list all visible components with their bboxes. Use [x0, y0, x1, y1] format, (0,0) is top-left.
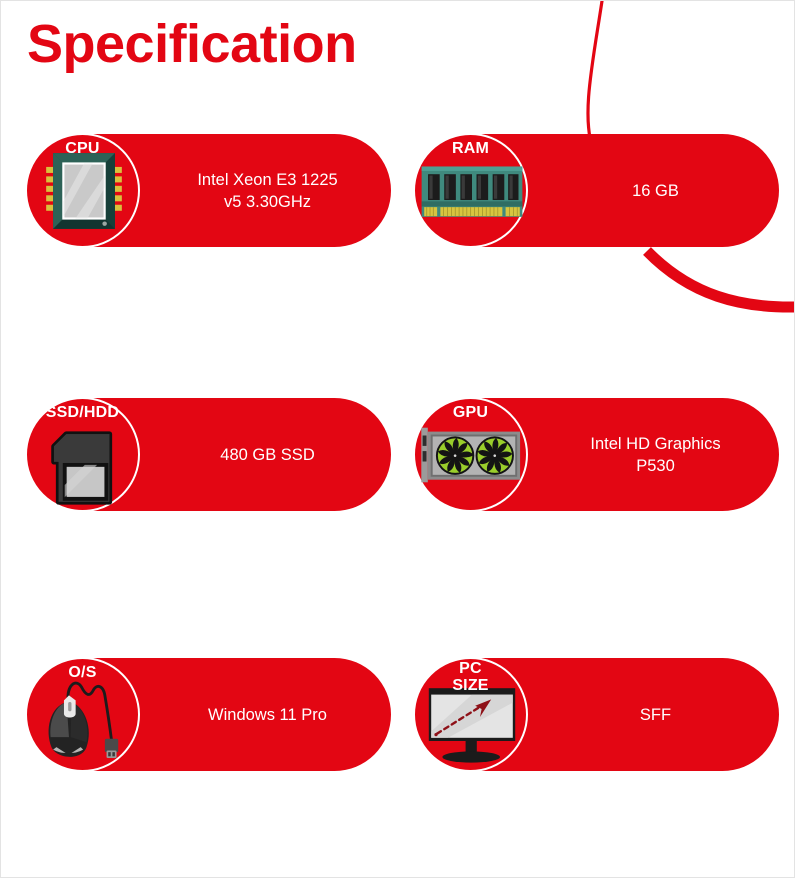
spec-value: Windows 11 Pro — [144, 658, 391, 771]
spec-label: CPU — [26, 140, 139, 157]
specification-infographic: Specification — [0, 0, 795, 878]
page-title: Specification — [27, 15, 357, 74]
spec-value: 480 GB SSD — [144, 398, 391, 511]
decor-curve-top — [588, 1, 602, 149]
spec-label: O/S — [26, 664, 139, 681]
spec-label: PC SIZE — [414, 660, 527, 694]
spec-label: RAM — [414, 140, 527, 157]
spec-value: 16 GB — [532, 134, 779, 247]
spec-card-pc-size[interactable]: PC SIZE SFF — [414, 658, 779, 771]
spec-label: GPU — [414, 404, 527, 421]
spec-card-storage[interactable]: SSD/HDD 480 GB SSD — [26, 398, 391, 511]
spec-label: SSD/HDD — [26, 404, 139, 421]
spec-value: Intel HD Graphics P530 — [532, 398, 779, 511]
spec-value: Intel Xeon E3 1225 v5 3.30GHz — [144, 134, 391, 247]
spec-card-os[interactable]: O/S Windows 11 Pro — [26, 658, 391, 771]
spec-value: SFF — [532, 658, 779, 771]
spec-card-ram[interactable]: RAM 16 GB — [414, 134, 779, 247]
decor-curve-bottom — [647, 251, 795, 307]
spec-card-cpu[interactable]: CPU Intel Xeon E3 1225 v5 3.30GHz — [26, 134, 391, 247]
spec-card-gpu[interactable]: GPU Intel HD Graphics P530 — [414, 398, 779, 511]
